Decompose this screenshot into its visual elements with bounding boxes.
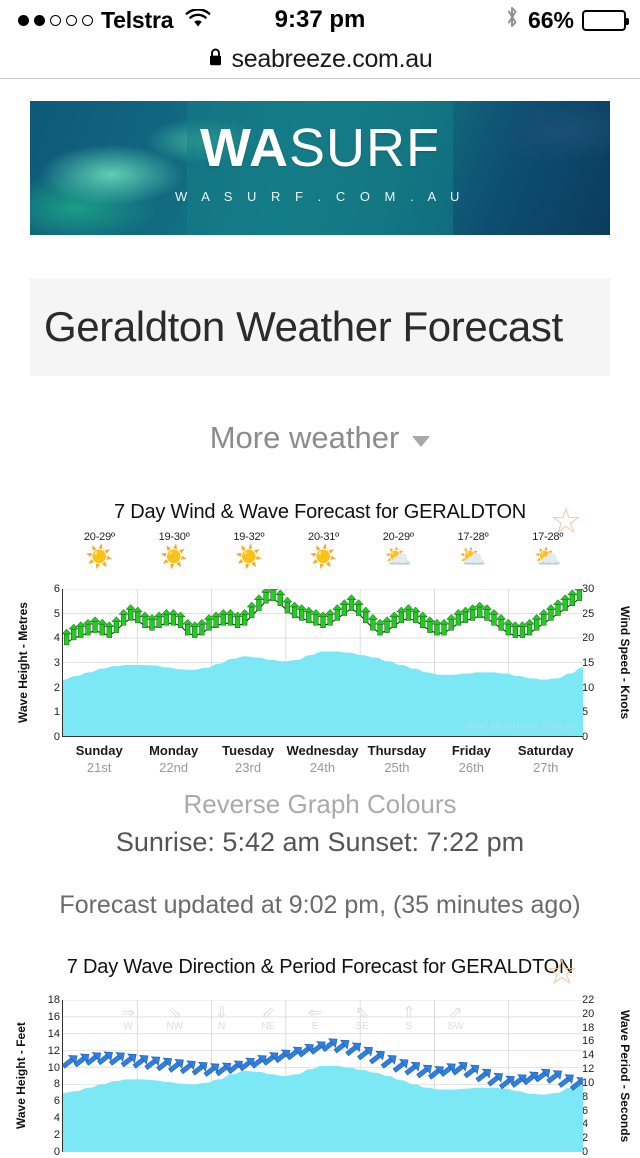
direction-legend-NE: ⇙NE [245, 1004, 292, 1032]
reverse-graph-colours-link[interactable]: Reverse Graph Colours [0, 789, 640, 820]
axis-tick: 10 [582, 1077, 604, 1089]
direction-legend-S: ⇑S [385, 1004, 432, 1032]
axis-tick: 18 [48, 994, 60, 1006]
wind-wave-forecast-chart[interactable]: 7 Day Wind & Wave Forecast for GERALDTON… [0, 501, 640, 771]
sun-behind-cloud-icon: ⛅ [510, 544, 585, 570]
axis-tick: 0 [582, 1146, 604, 1158]
temp-range: 19-32º [211, 531, 286, 543]
temp-col-monday: 19-30º☀️ [137, 531, 212, 570]
direction-arrow-icon: ⇙ [245, 1004, 292, 1021]
wave-direction-legend: ⇒W⇘NW⇓N⇙NE⇐E⇖SE⇑S⇗SW [105, 1004, 479, 1032]
lock-icon [208, 47, 223, 72]
axis-tick: 4 [54, 632, 60, 644]
axis-tick: 12 [48, 1045, 60, 1057]
direction-legend-W: ⇒W [105, 1004, 152, 1032]
axis-tick: 5 [582, 706, 604, 718]
status-bar-left: Telstra [18, 7, 211, 34]
day-col-tuesday: Tuesday23rd [211, 743, 285, 775]
forecast-notes: Reverse Graph Colours Sunrise: 5:42 am S… [0, 789, 640, 920]
bluetooth-icon [504, 5, 520, 35]
banner-subtitle: W A S U R F . C O M . A U [30, 189, 610, 204]
star-outline-icon[interactable]: ☆ [546, 954, 578, 990]
axis-tick: 25 [582, 608, 604, 620]
day-name: Monday [136, 743, 210, 758]
day-name: Tuesday [211, 743, 285, 758]
day-name: Friday [434, 743, 508, 758]
chart1-title: 7 Day Wind & Wave Forecast for GERALDTON [0, 501, 640, 524]
axis-tick: 10 [582, 682, 604, 694]
wave-direction-period-chart[interactable]: 7 Day Wave Direction & Period Forecast f… [0, 956, 640, 1156]
status-bar: Telstra 9:37 pm 66% [0, 0, 640, 40]
sun-icon: ☀️ [211, 544, 286, 570]
direction-label: E [312, 1021, 319, 1032]
chevron-down-icon [412, 436, 430, 447]
sun-icon: ☀️ [286, 544, 361, 570]
status-bar-right: 66% [504, 5, 626, 35]
day-date: 26th [434, 760, 508, 775]
chart2-y-left-label: Wave Height - Feet [14, 1000, 28, 1152]
direction-arrow-icon: ⇑ [385, 1004, 432, 1021]
page-content: WASURF W A S U R F . C O M . A U Geraldt… [0, 101, 640, 1156]
chart1-y-right-label: Wind Speed - Knots [618, 589, 632, 737]
direction-legend-SW: ⇗SW [432, 1004, 479, 1032]
direction-legend-SE: ⇖SE [339, 1004, 386, 1032]
direction-arrow-icon: ⇘ [151, 1004, 198, 1021]
axis-tick: 1 [54, 706, 60, 718]
axis-tick: 8 [54, 1078, 60, 1090]
direction-arrow-icon: ⇐ [292, 1004, 339, 1021]
sunrise-sunset-text: Sunrise: 5:42 am Sunset: 7:22 pm [0, 827, 640, 858]
banner-logo: WASURF [30, 121, 610, 175]
wifi-icon [185, 7, 211, 34]
axis-tick: 14 [48, 1028, 60, 1040]
axis-tick: 30 [582, 583, 604, 595]
direction-label: SW [448, 1021, 464, 1032]
day-name: Wednesday [285, 743, 359, 758]
sun-icon: ☀️ [137, 544, 212, 570]
axis-tick: 2 [54, 1129, 60, 1141]
banner-logo-bold: WA [200, 118, 289, 178]
direction-label: NE [261, 1021, 275, 1032]
chart2-title: 7 Day Wave Direction & Period Forecast f… [0, 956, 640, 979]
page-title-box: Geraldton Weather Forecast [30, 278, 610, 376]
temp-col-sunday: 20-29º☀️ [62, 531, 137, 570]
more-weather-dropdown[interactable]: More weather [0, 420, 640, 456]
day-col-friday: Friday26th [434, 743, 508, 775]
direction-arrow-icon: ⇒ [105, 1004, 152, 1021]
axis-tick: 6 [54, 1095, 60, 1107]
day-name: Thursday [360, 743, 434, 758]
temp-col-thursday: 20-29º⛅ [361, 531, 436, 570]
sun-behind-cloud-icon: ⛅ [361, 544, 436, 570]
axis-tick: 0 [54, 731, 60, 743]
chart2-y-left-axis: 024681012141618 [38, 1000, 60, 1152]
chart2-plot-area: ⇒W⇘NW⇓N⇙NE⇐E⇖SE⇑S⇗SW [62, 1000, 583, 1152]
direction-label: SE [355, 1021, 368, 1032]
axis-tick: 6 [582, 1105, 604, 1117]
chart1-y-left-axis: 0123456 [40, 589, 60, 737]
signal-strength-icon [18, 15, 93, 26]
direction-label: NW [166, 1021, 183, 1032]
axis-tick: 3 [54, 657, 60, 669]
day-name: Sunday [62, 743, 136, 758]
chart1-y-right-axis: 051015202530 [582, 589, 604, 737]
temp-range: 20-31º [286, 531, 361, 543]
day-labels-row: Sunday21stMonday22ndTuesday23rdWednesday… [62, 743, 583, 775]
chart1-y-left-label: Wave Height - Metres [16, 589, 30, 737]
axis-tick: 22 [582, 994, 604, 1006]
direction-label: W [123, 1021, 132, 1032]
more-weather-label: More weather [210, 420, 400, 456]
temp-range: 20-29º [62, 531, 137, 543]
day-date: 23rd [211, 760, 285, 775]
day-date: 27th [509, 760, 583, 775]
temp-col-saturday: 17-28º⛅ [510, 531, 585, 570]
day-date: 22nd [136, 760, 210, 775]
browser-url-bar[interactable]: seabreeze.com.au [0, 40, 640, 79]
carrier-label: Telstra [101, 7, 173, 34]
temp-col-friday: 17-28º⛅ [436, 531, 511, 570]
banner-logo-thin: SURF [289, 118, 440, 178]
axis-tick: 18 [582, 1022, 604, 1034]
axis-tick: 16 [582, 1035, 604, 1047]
axis-tick: 0 [582, 731, 604, 743]
battery-icon [582, 10, 626, 31]
day-date: 24th [285, 760, 359, 775]
axis-tick: 6 [54, 583, 60, 595]
battery-percent-label: 66% [528, 7, 574, 34]
chart2-y-right-label: Wave Period - Seconds [618, 1000, 632, 1152]
axis-tick: 12 [582, 1063, 604, 1075]
chart1-plot-area: www.seabreeze.com.au [62, 589, 583, 737]
url-text: seabreeze.com.au [232, 45, 433, 74]
page-title: Geraldton Weather Forecast [30, 303, 563, 351]
axis-tick: 10 [48, 1062, 60, 1074]
day-col-saturday: Saturday27th [509, 743, 583, 775]
day-col-monday: Monday22nd [136, 743, 210, 775]
axis-tick: 14 [582, 1049, 604, 1061]
direction-arrow-icon: ⇗ [432, 1004, 479, 1021]
direction-legend-E: ⇐E [292, 1004, 339, 1032]
axis-tick: 20 [582, 1008, 604, 1020]
temp-col-tuesday: 19-32º☀️ [211, 531, 286, 570]
temp-col-wednesday: 20-31º☀️ [286, 531, 361, 570]
day-col-sunday: Sunday21st [62, 743, 136, 775]
direction-label: S [405, 1021, 412, 1032]
wasurf-banner-ad[interactable]: WASURF W A S U R F . C O M . A U [30, 101, 610, 235]
daily-temperature-row: 20-29º☀️19-30º☀️19-32º☀️20-31º☀️20-29º⛅1… [62, 531, 585, 570]
direction-label: N [218, 1021, 225, 1032]
axis-tick: 2 [582, 1132, 604, 1144]
forecast-updated-text: Forecast updated at 9:02 pm, (35 minutes… [0, 891, 640, 920]
axis-tick: 4 [582, 1118, 604, 1130]
axis-tick: 4 [54, 1112, 60, 1124]
day-col-thursday: Thursday25th [360, 743, 434, 775]
axis-tick: 16 [48, 1011, 60, 1023]
day-col-wednesday: Wednesday24th [285, 743, 359, 775]
temp-range: 17-28º [436, 531, 511, 543]
temp-range: 17-28º [510, 531, 585, 543]
axis-tick: 8 [582, 1091, 604, 1103]
axis-tick: 5 [54, 608, 60, 620]
axis-tick: 15 [582, 657, 604, 669]
day-date: 25th [360, 760, 434, 775]
direction-legend-N: ⇓N [198, 1004, 245, 1032]
sun-icon: ☀️ [62, 544, 137, 570]
sun-behind-cloud-icon: ⛅ [436, 544, 511, 570]
direction-arrow-icon: ⇖ [339, 1004, 386, 1021]
temp-range: 20-29º [361, 531, 436, 543]
direction-legend-NW: ⇘NW [151, 1004, 198, 1032]
direction-arrow-icon: ⇓ [198, 1004, 245, 1021]
day-date: 21st [62, 760, 136, 775]
axis-tick: 20 [582, 632, 604, 644]
day-name: Saturday [509, 743, 583, 758]
chart1-watermark: www.seabreeze.com.au [465, 721, 577, 732]
chart2-y-right-axis: 0246810121416182022 [582, 1000, 604, 1152]
axis-tick: 2 [54, 682, 60, 694]
temp-range: 19-30º [137, 531, 212, 543]
axis-tick: 0 [54, 1146, 60, 1158]
